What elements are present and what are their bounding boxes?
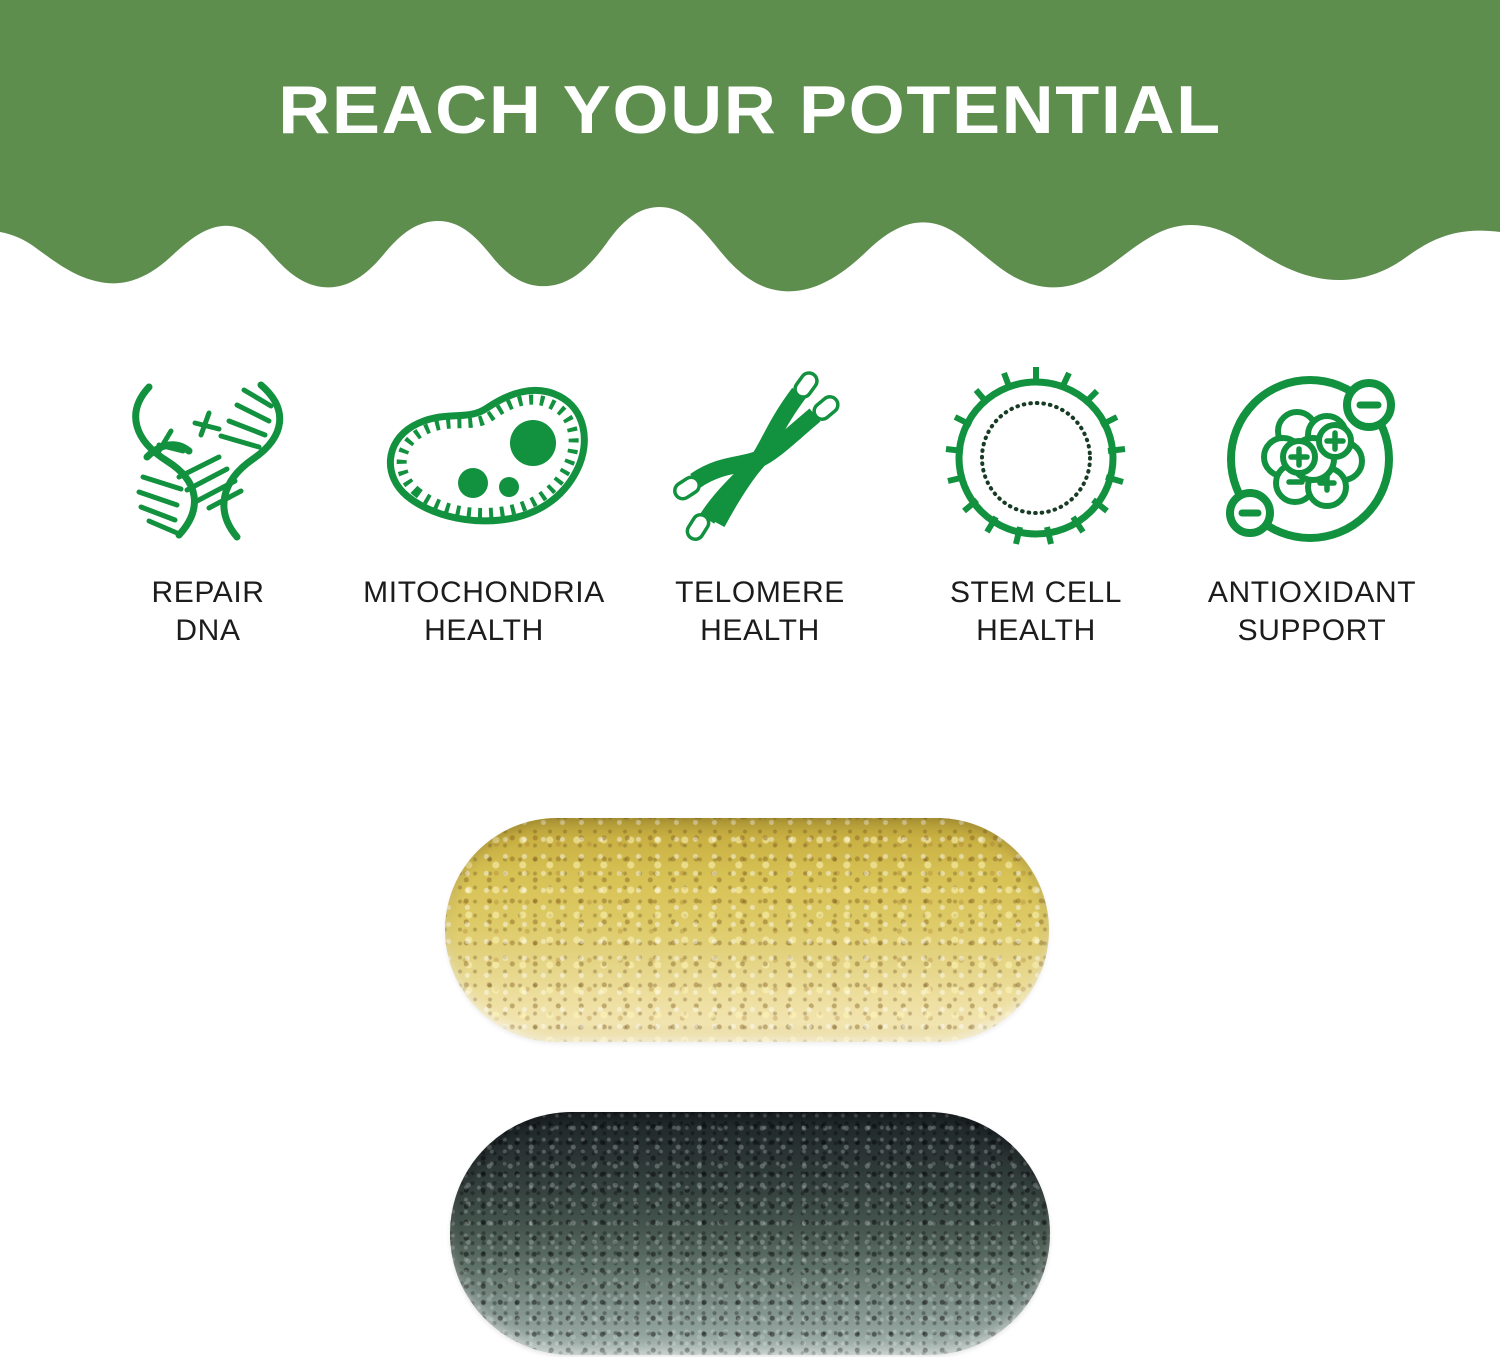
stem-cell-icon xyxy=(941,360,1131,560)
benefit-label: TELOMERE HEALTH xyxy=(675,574,845,649)
mitochondria-icon xyxy=(369,360,599,560)
banner-wave-shape xyxy=(0,0,1500,320)
benefit-item-repair-dna: REPAIR DNA xyxy=(70,360,346,649)
page-title: REACH YOUR POTENTIAL xyxy=(0,76,1500,144)
product-feature-image: REACH YOUR POTENTIAL xyxy=(0,0,1500,1357)
benefit-item-antioxidant-support: ANTIOXIDANT SUPPORT xyxy=(1174,360,1450,649)
benefit-label: STEM CELL HEALTH xyxy=(950,574,1122,649)
atom-icon xyxy=(1217,360,1407,560)
benefit-label: REPAIR DNA xyxy=(151,574,264,649)
benefit-label: ANTIOXIDANT SUPPORT xyxy=(1208,574,1416,649)
benefit-item-telomere-health: TELOMERE HEALTH xyxy=(622,360,898,649)
chromosome-icon xyxy=(665,360,855,560)
header-banner: REACH YOUR POTENTIAL xyxy=(0,0,1500,320)
benefit-label: MITOCHONDRIA HEALTH xyxy=(363,574,605,649)
yellow-tablet-image xyxy=(445,818,1049,1042)
benefits-row: REPAIR DNA MITOCHONDRIA HEALTH xyxy=(70,360,1450,660)
dna-helix-icon xyxy=(113,360,303,560)
dark-tablet-image xyxy=(450,1112,1050,1355)
benefit-item-mitochondria-health: MITOCHONDRIA HEALTH xyxy=(346,360,622,649)
benefit-item-stem-cell-health: STEM CELL HEALTH xyxy=(898,360,1174,649)
